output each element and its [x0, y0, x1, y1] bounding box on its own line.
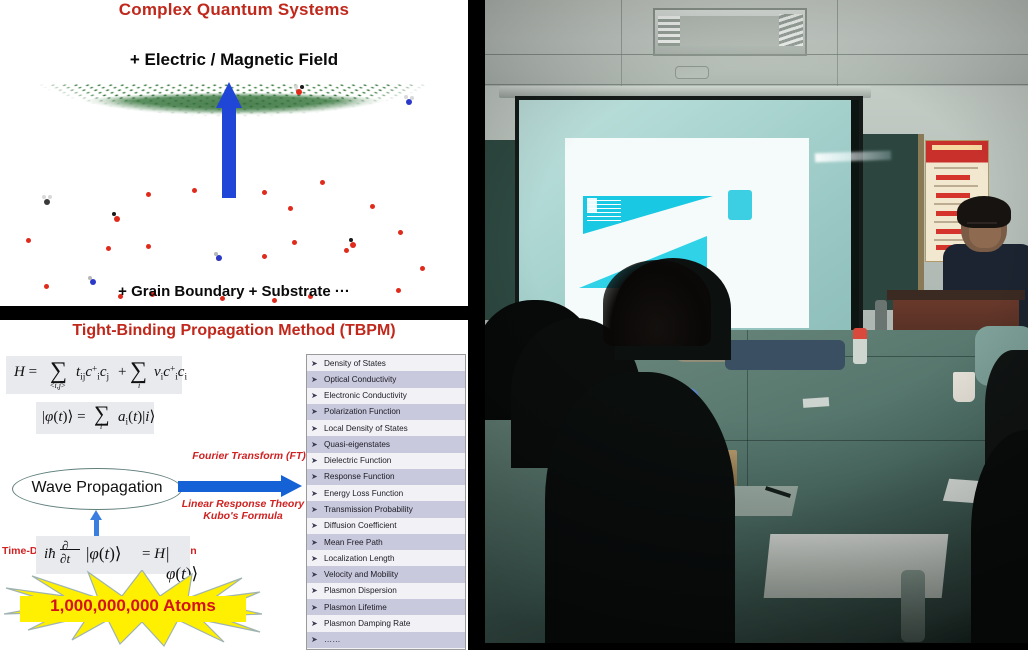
list-item-label: Transmission Probability	[324, 505, 413, 514]
chevron-right-icon: ➤	[311, 440, 324, 449]
impurity-dot	[292, 240, 297, 245]
list-item-label: Local Density of States	[324, 424, 408, 433]
impurity-dot	[262, 190, 267, 195]
adsorbed-molecule-icon	[214, 252, 223, 263]
list-item[interactable]: ➤Velocity and Mobility	[307, 566, 465, 582]
list-item-label: Optical Conductivity	[324, 375, 396, 384]
impurity-dot	[106, 246, 111, 251]
chevron-right-icon: ➤	[311, 472, 324, 481]
chevron-right-icon: ➤	[311, 603, 324, 612]
photo-vignette	[485, 0, 1028, 643]
linear-response-label: Linear Response Theory Kubo's Formula	[178, 498, 308, 522]
impurity-dot	[288, 206, 293, 211]
chevron-right-icon: ➤	[311, 619, 324, 628]
list-item-label: Localization Length	[324, 554, 395, 563]
chevron-right-icon: ➤	[311, 424, 324, 433]
impurity-dot	[398, 230, 403, 235]
chevron-right-icon: ➤	[311, 359, 324, 368]
tbpm-panel: Tight-Binding Propagation Method (TBPM) …	[0, 320, 468, 650]
list-item[interactable]: ➤Diffusion Coefficient	[307, 518, 465, 534]
list-item-label: Mean Free Path	[324, 538, 383, 547]
list-item[interactable]: ➤Plasmon Damping Rate	[307, 615, 465, 631]
tbpm-observables-list: ➤Density of States ➤Optical Conductivity…	[306, 354, 466, 650]
adsorbed-molecule-icon	[348, 238, 357, 249]
adsorbed-molecule-icon	[294, 85, 303, 96]
adsorbed-molecule-icon	[42, 195, 51, 206]
chevron-right-icon: ➤	[311, 489, 324, 498]
chevron-right-icon: ➤	[311, 391, 324, 400]
list-item-label: Quasi-eigenstates	[324, 440, 390, 449]
chevron-right-icon: ➤	[311, 456, 324, 465]
chevron-right-icon: ➤	[311, 635, 324, 644]
list-item[interactable]: ➤Mean Free Path	[307, 534, 465, 550]
adsorbed-molecule-icon	[404, 95, 413, 106]
chevron-right-icon: ➤	[311, 538, 324, 547]
impurity-dot	[146, 192, 151, 197]
impurity-dot	[320, 180, 325, 185]
impurity-dot	[26, 238, 31, 243]
electric-magnetic-field-label: + Electric / Magnetic Field	[0, 50, 468, 70]
list-item[interactable]: ➤Plasmon Dispersion	[307, 583, 465, 599]
adsorbed-molecule-icon	[112, 212, 121, 223]
list-item-label: Density of States	[324, 359, 386, 368]
impurity-dot	[262, 254, 267, 259]
list-item[interactable]: ➤……	[307, 632, 465, 648]
list-item-label: ……	[324, 635, 340, 644]
screenshot-stage: Complex Quantum Systems + Electric / Mag…	[0, 0, 1028, 650]
tbpm-title: Tight-Binding Propagation Method (TBPM)	[0, 322, 468, 340]
chevron-right-icon: ➤	[311, 586, 324, 595]
transform-arrow-icon	[178, 475, 302, 497]
list-item-label: Plasmon Dispersion	[324, 586, 397, 595]
list-item-label: Polarization Function	[324, 407, 400, 416]
complex-quantum-systems-panel: Complex Quantum Systems + Electric / Mag…	[0, 0, 468, 306]
impurity-dot	[146, 244, 151, 249]
chevron-right-icon: ➤	[311, 407, 324, 416]
list-item[interactable]: ➤Quasi-eigenstates	[307, 436, 465, 452]
impurity-dot	[420, 266, 425, 271]
chevron-right-icon: ➤	[311, 554, 324, 563]
wavefunction-equation: |φ(t)⟩ = ∑ i ai(t)|i⟩	[36, 402, 154, 434]
list-item[interactable]: ➤Electronic Conductivity	[307, 388, 465, 404]
list-item-label: Plasmon Lifetime	[324, 603, 387, 612]
schrodinger-equation: iħ ∂ ∂t |φ(t)⟩ = H |φ(t)⟩	[36, 536, 190, 574]
grain-boundary-substrate-label: + Grain Boundary + Substrate ···	[0, 283, 468, 300]
atoms-count-label: 1,000,000,000 Atoms	[2, 596, 264, 616]
wave-propagation-node: Wave Propagation	[12, 468, 182, 510]
lecture-room-photo	[485, 0, 1028, 643]
hamiltonian-equation: H = ∑ <i,j> tijc+icj + ∑ i vic+ici	[6, 356, 182, 394]
list-item[interactable]: ➤Plasmon Lifetime	[307, 599, 465, 615]
impurity-dot	[192, 188, 197, 193]
list-item-label: Diffusion Coefficient	[324, 521, 397, 530]
list-item-label: Dielectric Function	[324, 456, 391, 465]
atoms-starburst: 1,000,000,000 Atoms	[2, 570, 264, 648]
field-arrow-icon	[216, 82, 242, 198]
list-item-label: Velocity and Mobility	[324, 570, 398, 579]
page-title: Complex Quantum Systems	[0, 0, 468, 20]
impurity-dot	[370, 204, 375, 209]
chevron-right-icon: ➤	[311, 375, 324, 384]
fourier-transform-label: Fourier Transform (FT)	[188, 450, 310, 462]
list-item-label: Electronic Conductivity	[324, 391, 407, 400]
chevron-right-icon: ➤	[311, 521, 324, 530]
list-item-label: Energy Loss Function	[324, 489, 403, 498]
list-item-label: Response Function	[324, 472, 395, 481]
list-item[interactable]: ➤Optical Conductivity	[307, 371, 465, 387]
wave-propagation-label: Wave Propagation	[13, 469, 181, 507]
chevron-right-icon: ➤	[311, 570, 324, 579]
list-item[interactable]: ➤Transmission Probability	[307, 501, 465, 517]
list-item[interactable]: ➤Polarization Function	[307, 404, 465, 420]
list-item[interactable]: ➤Density of States	[307, 355, 465, 371]
list-item[interactable]: ➤Localization Length	[307, 550, 465, 566]
list-item[interactable]: ➤Local Density of States	[307, 420, 465, 436]
list-item[interactable]: ➤Dielectric Function	[307, 453, 465, 469]
chevron-right-icon: ➤	[311, 505, 324, 514]
list-item[interactable]: ➤Energy Loss Function	[307, 485, 465, 501]
list-item-label: Plasmon Damping Rate	[324, 619, 410, 628]
list-item[interactable]: ➤Response Function	[307, 469, 465, 485]
